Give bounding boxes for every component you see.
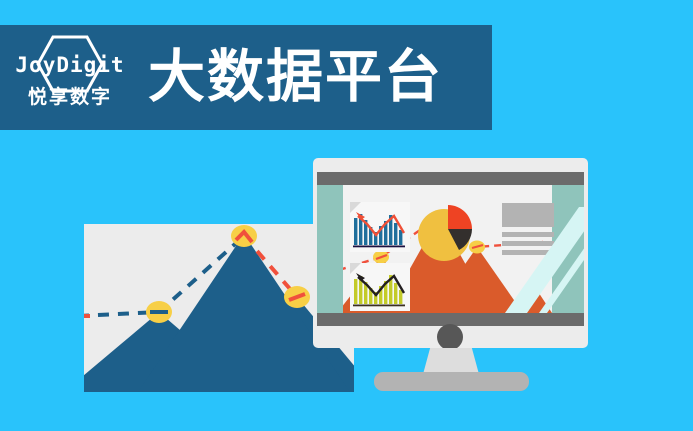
brand-logo: JoyDigit 悦享数字 (14, 33, 126, 123)
page-title: 大数据平台 (148, 49, 443, 106)
monitor-camera-dot (437, 324, 463, 350)
text-block-line (502, 250, 554, 255)
widget-pie-chart (417, 203, 477, 263)
header-banner: JoyDigit 悦享数字 大数据平台 (0, 25, 492, 130)
monitor-top-bezel (317, 172, 584, 185)
logo-chinese-text: 悦享数字 (28, 88, 112, 107)
pie-slice-red (448, 205, 472, 229)
screen-left-strip (317, 185, 343, 313)
axis-line (353, 305, 405, 307)
screen-right-strip (552, 185, 584, 313)
poster-canvas: JoyDigit 悦享数字 大数据平台 (0, 0, 693, 431)
widget-bar-chart-blue (350, 202, 410, 252)
text-block-line (502, 241, 554, 246)
monitor-illustration (313, 158, 588, 388)
orange-mountain-far-right (509, 281, 552, 313)
text-block-header (502, 203, 554, 227)
axis-line (353, 246, 405, 248)
widget-text-block (502, 203, 554, 255)
olive-bar-chart-svg (350, 263, 410, 311)
text-block-line (502, 232, 554, 237)
data-marker (231, 225, 257, 247)
logo-latin-text: JoyDigit (15, 55, 124, 76)
monitor-base (374, 372, 529, 391)
blue-bar-chart-svg (350, 202, 410, 252)
widget-bar-chart-olive (350, 263, 410, 311)
monitor-screen (317, 185, 584, 313)
